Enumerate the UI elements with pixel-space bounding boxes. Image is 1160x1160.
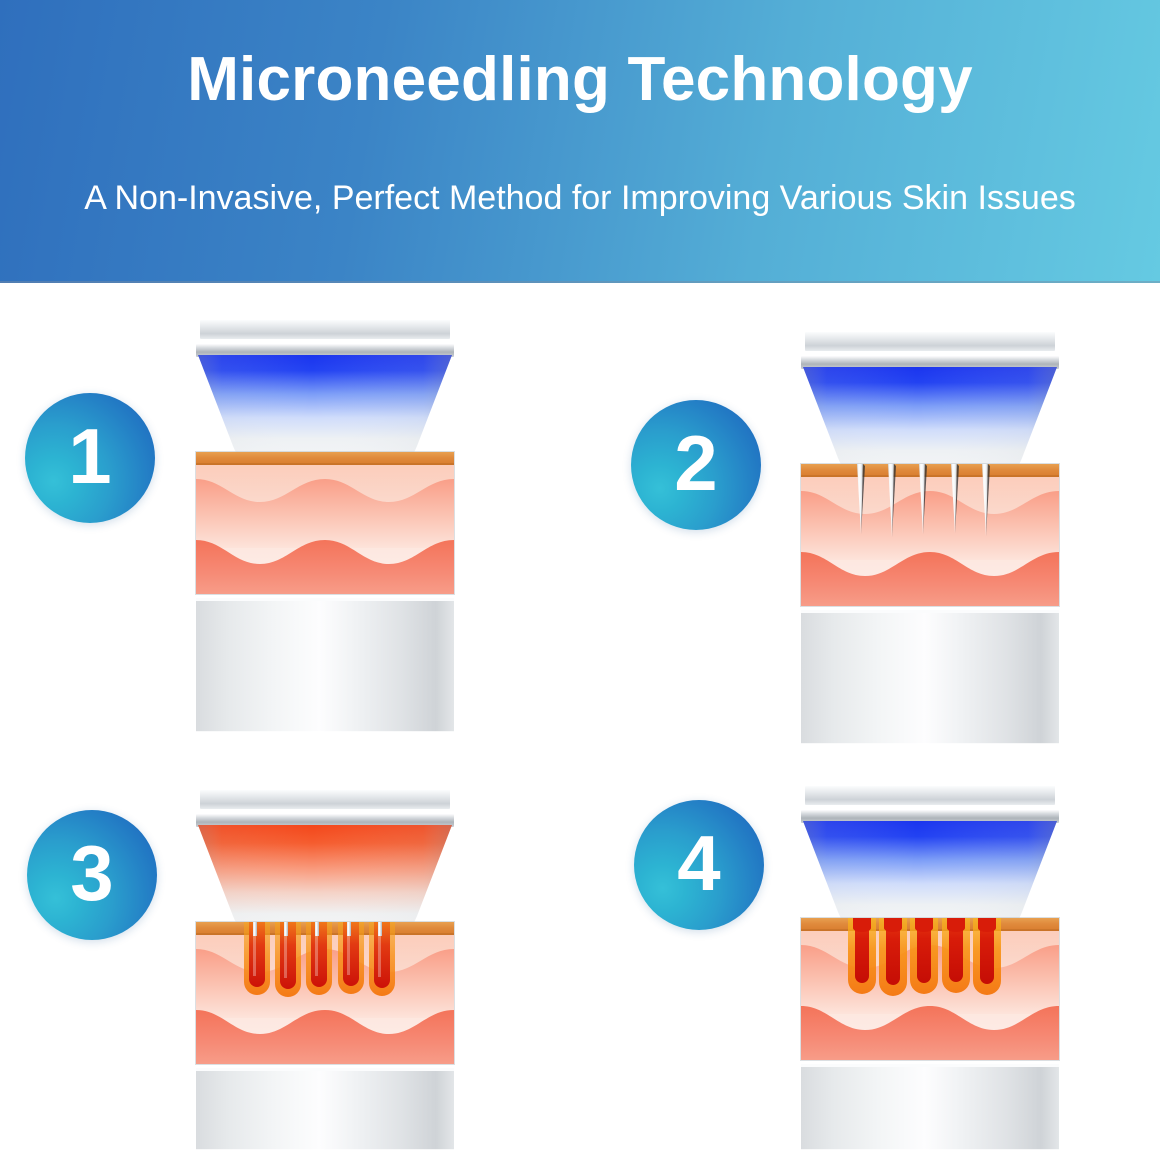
step-1-illustration	[196, 320, 454, 732]
device-cap-outer-2	[805, 332, 1055, 351]
skin-cross-section-2	[801, 464, 1059, 606]
step-badge-4[interactable]: 4	[634, 800, 764, 930]
device-base-highlight-2	[801, 610, 1059, 613]
step-3-illustration	[196, 790, 454, 1150]
step-2-illustration	[801, 332, 1059, 744]
thermal-zone-group	[848, 918, 1001, 996]
step-badge-3-number: 3	[27, 810, 157, 940]
step-badge-2[interactable]: 2	[631, 400, 761, 530]
heated-needle-group	[244, 922, 395, 997]
device-base-highlight-1	[196, 598, 454, 601]
device-base-3	[196, 1068, 454, 1150]
step-badge-1-number: 1	[25, 393, 155, 523]
page-subtitle: A Non-Invasive, Perfect Method for Impro…	[0, 180, 1160, 217]
infographic-page: Microneedling Technology A Non-Invasive,…	[0, 0, 1160, 1160]
page-title: Microneedling Technology	[0, 47, 1160, 112]
device-cap-outer-1	[200, 320, 450, 339]
device-base-highlight-3	[196, 1068, 454, 1071]
device-cap-outer-4	[805, 786, 1055, 805]
step-badge-4-number: 4	[634, 800, 764, 930]
header-banner: Microneedling Technology A Non-Invasive,…	[0, 0, 1160, 283]
skin-cross-section-4	[801, 918, 1059, 1060]
step-badge-1[interactable]: 1	[25, 393, 155, 523]
device-base-2	[801, 610, 1059, 744]
device-base-highlight-4	[801, 1064, 1059, 1067]
header-divider	[0, 281, 1160, 283]
device-base-4	[801, 1064, 1059, 1150]
skin-cross-section-1	[196, 452, 454, 594]
step-badge-2-number: 2	[631, 400, 761, 530]
device-cap-outer-3	[200, 790, 450, 809]
step-4-illustration	[801, 786, 1059, 1150]
device-base-1	[196, 598, 454, 732]
skin-cross-section-3	[196, 922, 454, 1064]
step-badge-3[interactable]: 3	[27, 810, 157, 940]
